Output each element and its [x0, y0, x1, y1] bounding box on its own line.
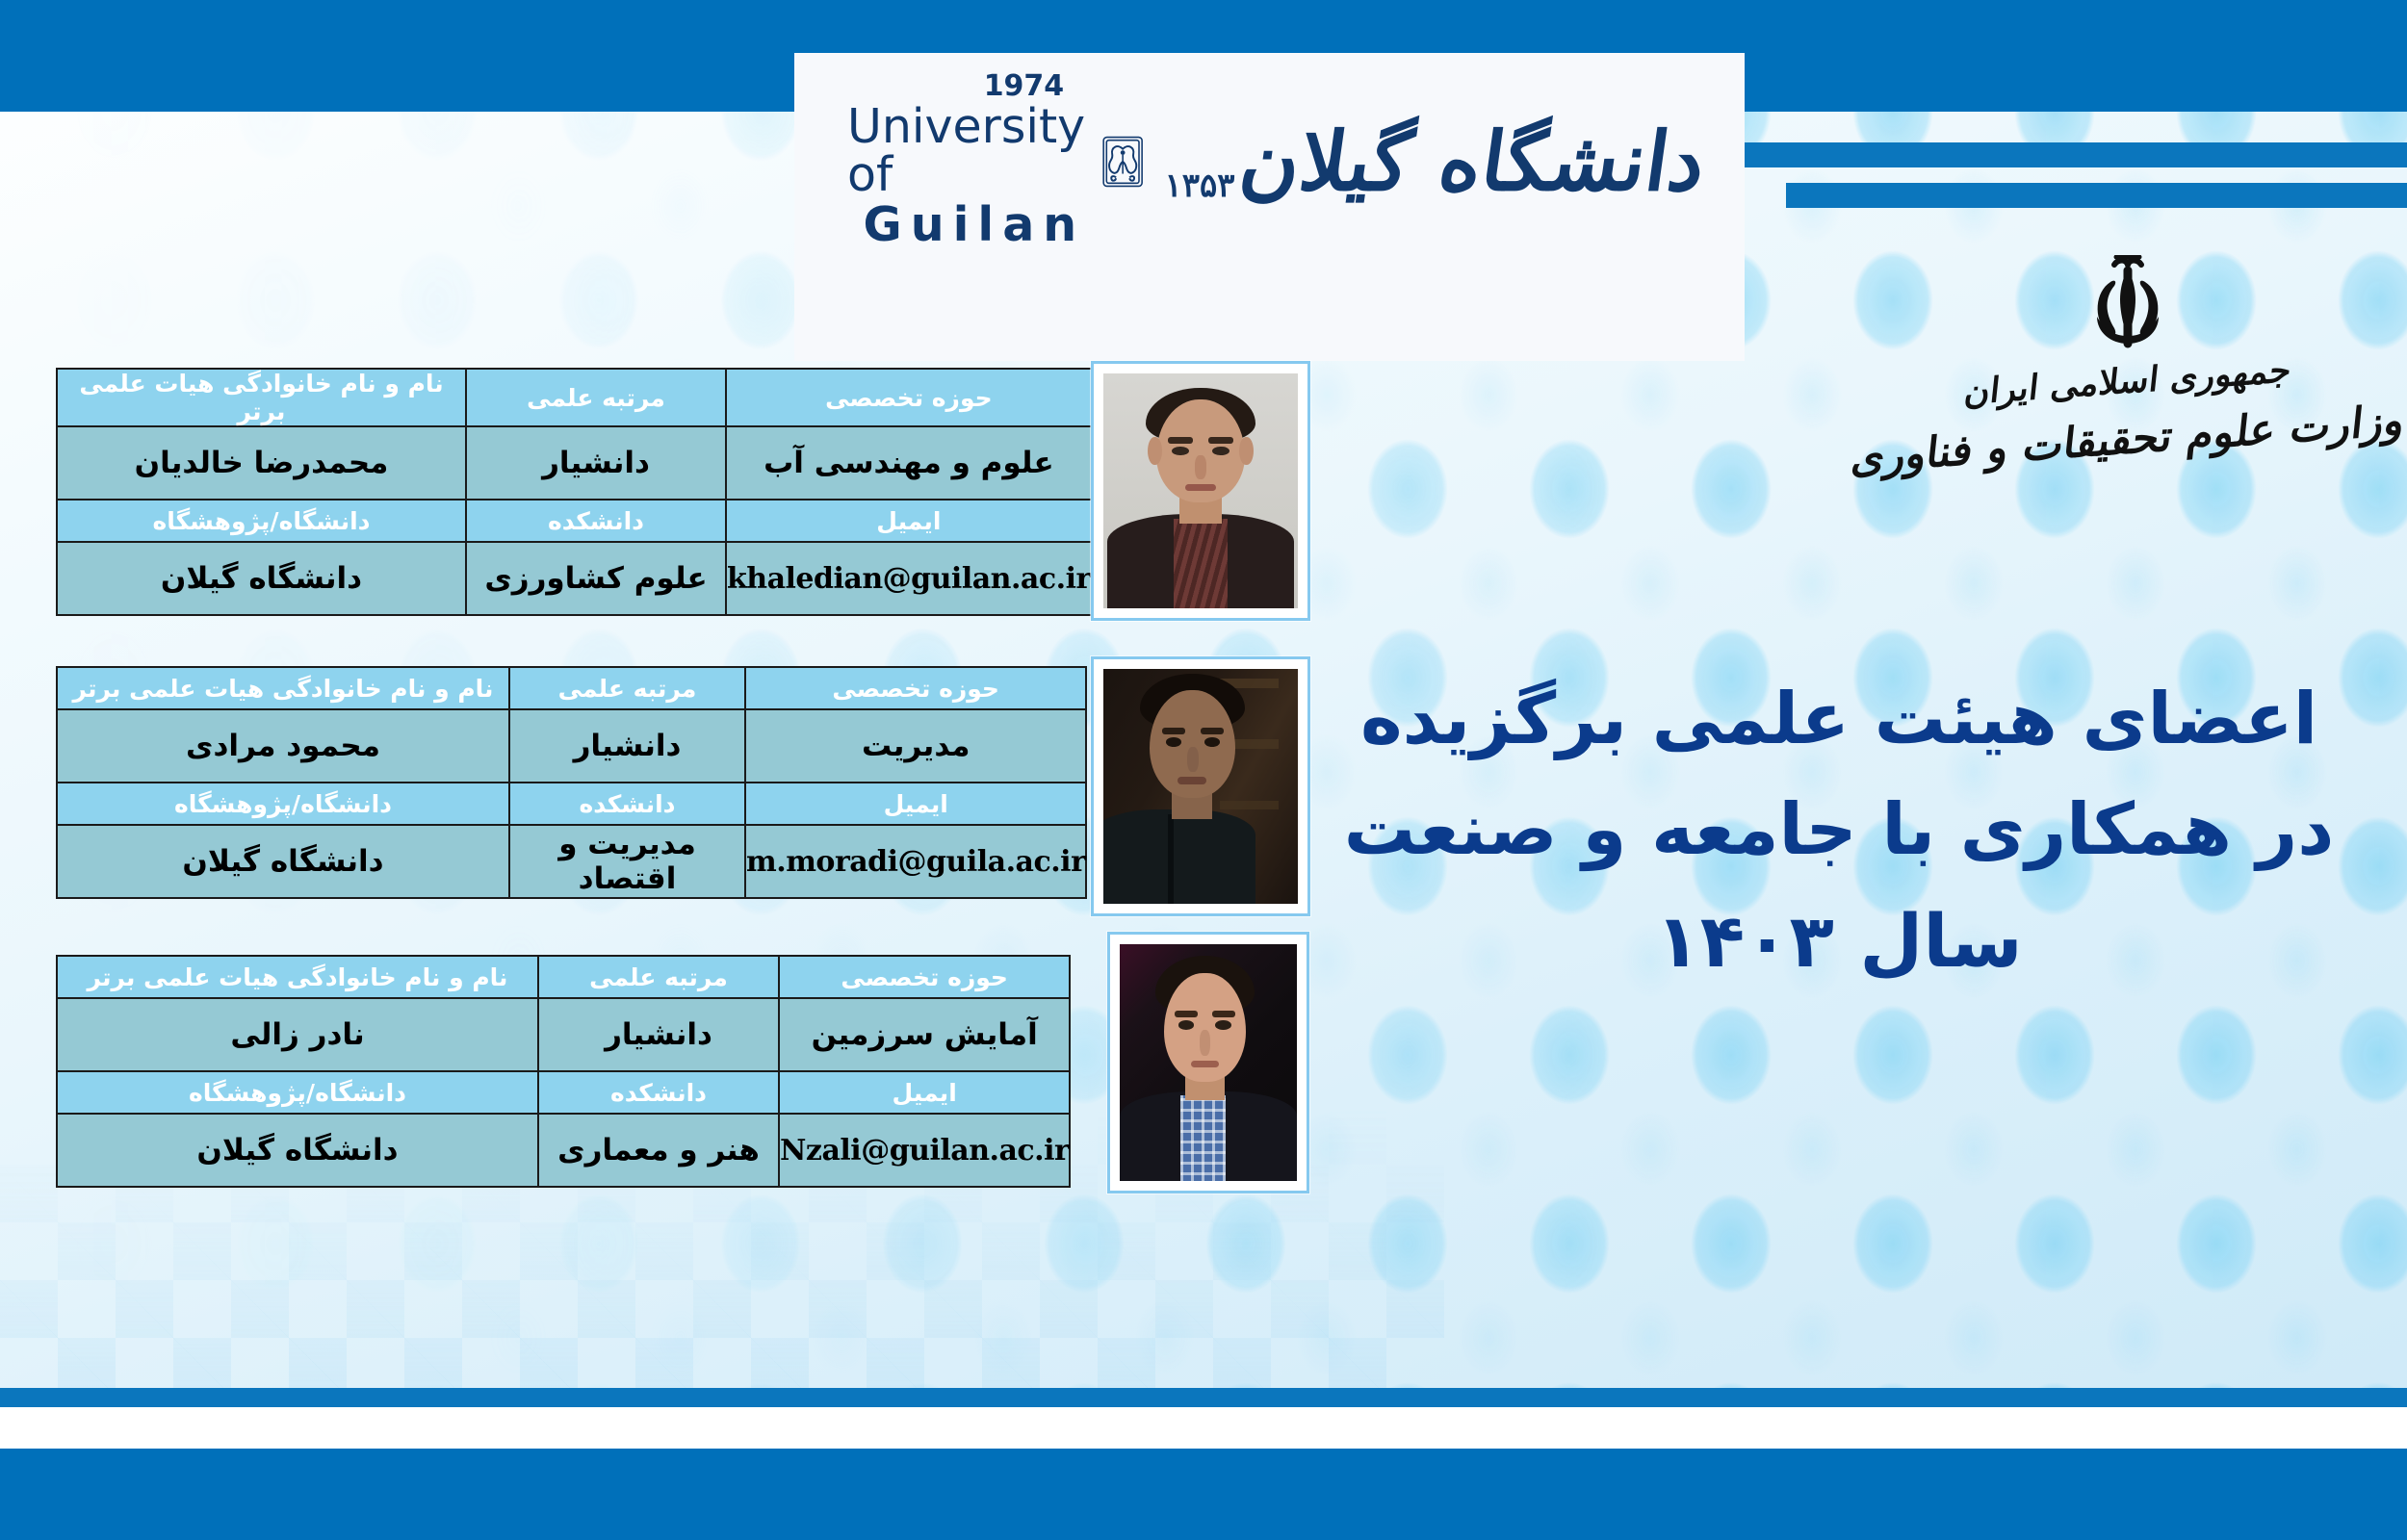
portrait-nader-zali — [1120, 944, 1297, 1181]
col-header-rank: مرتبه علمی — [466, 369, 726, 426]
decorative-rule-2 — [1786, 183, 2407, 208]
col-header-field: حوزه تخصصی — [726, 369, 1092, 426]
university-name-en-line1: University of — [847, 103, 1085, 199]
table-row: m.moradi@guila.ac.ir مدیریت و اقتصاد دان… — [57, 825, 1086, 898]
col-header-faculty: دانشکده — [538, 1071, 779, 1114]
poster-canvas: 1974 University of Guilan ۱۳۵۳ دانشگاه گ… — [0, 0, 2407, 1540]
cell-email[interactable]: m.moradi@guila.ac.ir — [745, 825, 1086, 898]
col-header-name: نام و نام خانوادگی هیات علمی برتر — [57, 369, 466, 426]
cell-field: آمایش سرزمین — [779, 998, 1070, 1071]
col-header-rank: مرتبه علمی — [509, 667, 745, 709]
cell-faculty: علوم کشاورزی — [466, 542, 726, 615]
table-row: علوم و مهندسی آب دانشیار محمدرضا خالدیان — [57, 426, 1092, 500]
table-row: حوزه تخصصی مرتبه علمی نام و نام خانوادگی… — [57, 667, 1086, 709]
ministry-country-line: جمهوری اسلامی ایران — [1962, 349, 2293, 412]
cell-field: علوم و مهندسی آب — [726, 426, 1092, 500]
university-logo-english: 1974 University of Guilan — [847, 72, 1085, 251]
col-header-name: نام و نام خانوادگی هیات علمی برتر — [57, 667, 509, 709]
col-header-email: ایمیل — [726, 500, 1092, 542]
member-table-2: حوزه تخصصی مرتبه علمی نام و نام خانوادگی… — [56, 666, 1087, 899]
cell-rank: دانشیار — [509, 709, 745, 783]
portrait-frame-1 — [1091, 361, 1310, 621]
table-row: ایمیل دانشکده دانشگاه/پژوهشگاه — [57, 1071, 1070, 1114]
cell-field: مدیریت — [745, 709, 1086, 783]
cell-email[interactable]: Nzali@guilan.ac.ir — [779, 1114, 1070, 1187]
table-row: آمایش سرزمین دانشیار نادر زالی — [57, 998, 1070, 1071]
cell-name: نادر زالی — [57, 998, 538, 1071]
bottom-blue-band — [0, 1449, 2407, 1540]
table-row: حوزه تخصصی مرتبه علمی نام و نام خانوادگی… — [57, 956, 1070, 998]
col-header-name: نام و نام خانوادگی هیات علمی برتر — [57, 956, 538, 998]
table-row: Nzali@guilan.ac.ir هنر و معماری دانشگاه … — [57, 1114, 1070, 1187]
ministry-name-line: وزارت علوم تحقیقات و فناوری — [1849, 396, 2407, 483]
table-row: مدیریت دانشیار محمود مرادی — [57, 709, 1086, 783]
col-header-institution: دانشگاه/پژوهشگاه — [57, 500, 466, 542]
col-header-faculty: دانشکده — [466, 500, 726, 542]
founding-year-hijri: ۱۳۵۳ — [1165, 167, 1235, 205]
table-row: ایمیل دانشکده دانشگاه/پژوهشگاه — [57, 783, 1086, 825]
poster-headline: اعضای هیئت علمی برگزیده در همکاری با جام… — [1329, 664, 2349, 998]
col-header-email: ایمیل — [745, 783, 1086, 825]
decorative-rule-1 — [1745, 142, 2407, 167]
bottom-thin-blue-rule — [0, 1388, 2407, 1407]
founding-year-gregorian: 1974 — [984, 72, 1065, 101]
col-header-faculty: دانشکده — [509, 783, 745, 825]
ministry-emblem-block: جمهوری اسلامی ایران وزارت علوم تحقیقات و… — [1911, 255, 2344, 505]
col-header-email: ایمیل — [779, 1071, 1070, 1114]
portrait-mohammadreza-khaledian — [1103, 373, 1298, 608]
university-name-en-line2: Guilan — [864, 199, 1086, 251]
col-header-institution: دانشگاه/پژوهشگاه — [57, 783, 509, 825]
cell-faculty: مدیریت و اقتصاد — [509, 825, 745, 898]
iran-national-emblem-icon — [2082, 255, 2174, 351]
university-name-fa: دانشگاه گیلان — [1235, 121, 1710, 202]
cell-institution: دانشگاه گیلان — [57, 825, 509, 898]
col-header-institution: دانشگاه/پژوهشگاه — [57, 1071, 538, 1114]
headline-line-3: سال ۱۴۰۳ — [1329, 885, 2349, 998]
member-table-1: حوزه تخصصی مرتبه علمی نام و نام خانوادگی… — [56, 368, 1093, 616]
portrait-frame-3 — [1107, 932, 1309, 1193]
table-row: حوزه تخصصی مرتبه علمی نام و نام خانوادگی… — [57, 369, 1092, 426]
cell-rank: دانشیار — [538, 998, 779, 1071]
cell-faculty: هنر و معماری — [538, 1114, 779, 1187]
col-header-field: حوزه تخصصی — [745, 667, 1086, 709]
col-header-rank: مرتبه علمی — [538, 956, 779, 998]
university-logo: 1974 University of Guilan ۱۳۵۳ دانشگاه گ… — [847, 96, 1704, 226]
headline-line-2: در همکاری با جامعه و صنعت — [1329, 775, 2349, 885]
cell-name: محمدرضا خالدیان — [57, 426, 466, 500]
cell-institution: دانشگاه گیلان — [57, 542, 466, 615]
guilan-seal-icon — [1102, 96, 1143, 227]
member-table-3: حوزه تخصصی مرتبه علمی نام و نام خانوادگی… — [56, 955, 1071, 1188]
headline-line-1: اعضای هیئت علمی برگزیده — [1329, 664, 2349, 775]
cell-name: محمود مرادی — [57, 709, 509, 783]
cell-email[interactable]: khaledian@guilan.ac.ir — [726, 542, 1092, 615]
col-header-field: حوزه تخصصی — [779, 956, 1070, 998]
cell-institution: دانشگاه گیلان — [57, 1114, 538, 1187]
table-row: khaledian@guilan.ac.ir علوم کشاورزی دانش… — [57, 542, 1092, 615]
cell-rank: دانشیار — [466, 426, 726, 500]
table-row: ایمیل دانشکده دانشگاه/پژوهشگاه — [57, 500, 1092, 542]
portrait-mahmoud-moradi — [1103, 669, 1298, 904]
portrait-frame-2 — [1091, 656, 1310, 916]
